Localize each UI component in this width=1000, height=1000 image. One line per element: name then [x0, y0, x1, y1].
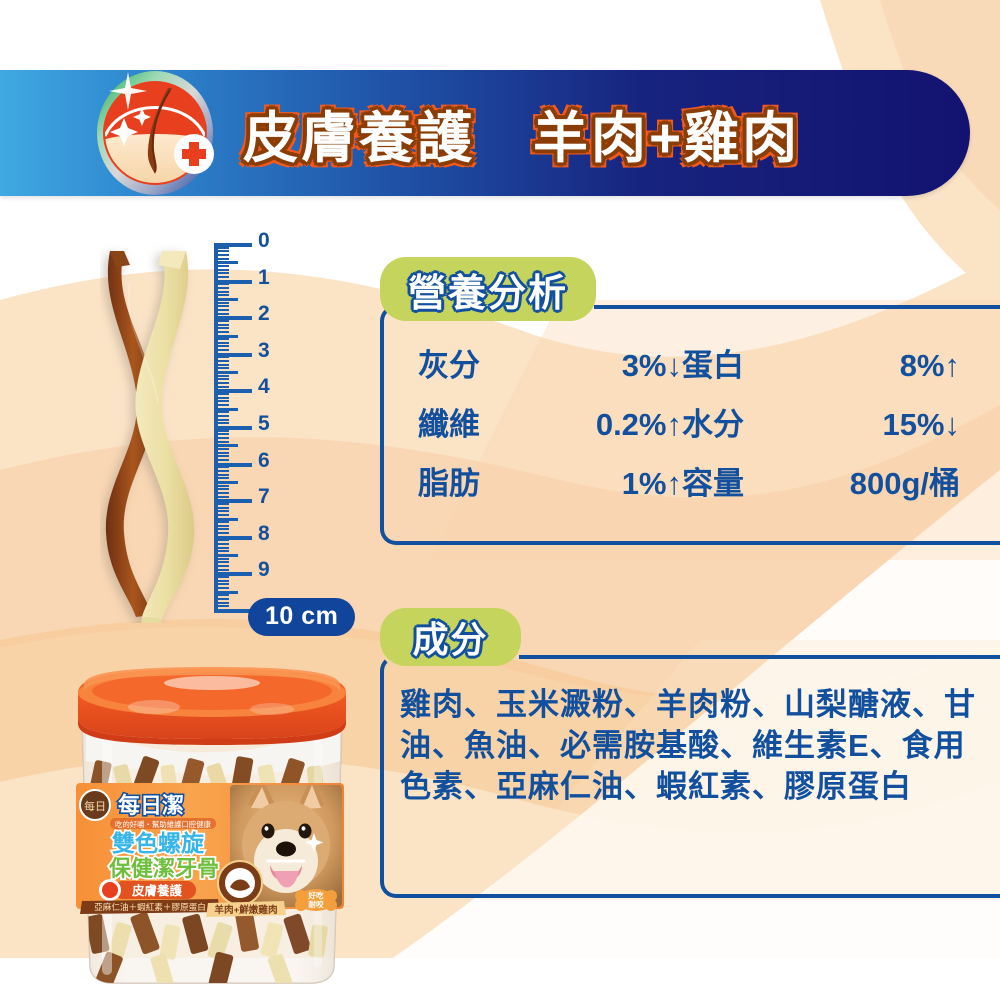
- ruler-tick-minor: [218, 470, 229, 472]
- ruler-tick-minor: [218, 528, 229, 530]
- ruler-tick-minor: [218, 309, 229, 311]
- ruler-tick-minor: [218, 422, 229, 424]
- ruler-tick-minor: [218, 393, 229, 395]
- infographic-canvas: 皮膚養護 羊肉+雞肉: [0, 0, 1000, 1000]
- nutrition-panel-topline: [594, 305, 1000, 309]
- ruler-tick-minor: [218, 503, 229, 505]
- nutrition-value: 1%↑: [534, 466, 682, 502]
- ruler-number: 2: [258, 302, 270, 326]
- tub-product-line2: 保健潔牙骨: [108, 856, 219, 881]
- ruler-tick-minor: [218, 576, 229, 578]
- page-title: 皮膚養護 羊肉+雞肉: [243, 93, 800, 173]
- tub-brand-text: 每日潔: [118, 793, 184, 818]
- ingredients-tab-label: 成分: [412, 611, 488, 663]
- ruler-tick-minor: [218, 591, 238, 594]
- nutrition-label: 纖維: [418, 399, 534, 444]
- nutrition-label: 容量: [682, 458, 800, 503]
- ruler-tick-minor: [218, 272, 229, 274]
- ruler-tick-minor: [218, 448, 229, 450]
- nutrition-value: 0.2%↑: [534, 407, 682, 443]
- ruler-tick-minor: [218, 492, 229, 494]
- ruler-tick-minor: [218, 569, 229, 571]
- ruler-tick-minor: [218, 375, 229, 377]
- ruler-tick-minor: [218, 485, 229, 487]
- ruler-tick-minor: [218, 345, 229, 347]
- ruler-tick-minor: [218, 276, 229, 278]
- ruler-tick-minor: [218, 258, 229, 260]
- svg-text:每日: 每日: [84, 799, 106, 813]
- ruler-tick-minor: [218, 291, 229, 293]
- ruler-tick-minor: [218, 507, 229, 509]
- nutrition-value: 800g/桶: [800, 458, 960, 503]
- ruler-tick-minor: [218, 474, 229, 476]
- tub-lid: [78, 667, 346, 745]
- ruler-tick-minor: [218, 433, 229, 435]
- ruler-tick-minor: [218, 543, 229, 545]
- ruler-number: 9: [258, 558, 270, 582]
- ruler-tick-minor: [218, 587, 229, 589]
- ruler-tick-minor: [218, 481, 238, 484]
- product-tub-image: 每日 每日潔 吃的好嚼‧幫助維護口腔健康 雙色螺旋 保健潔牙骨 皮膚養護 亞麻仁…: [62, 665, 362, 985]
- ruler-tick-minor: [218, 287, 229, 289]
- ruler-tick-minor: [218, 547, 229, 549]
- ruler-number: 3: [258, 339, 270, 363]
- twisted-chew-stick-image: [100, 243, 200, 623]
- nutrition-table: 灰分3%↓蛋白8%↑纖維0.2%↑水分15%↓脂肪1%↑容量800g/桶: [418, 340, 988, 503]
- ruler-tick-minor: [218, 452, 229, 454]
- ruler-tick-minor: [218, 441, 229, 443]
- svg-text:耐咬: 耐咬: [308, 899, 324, 909]
- ruler-tick-minor: [218, 265, 229, 267]
- ruler-tick-minor: [218, 455, 229, 457]
- nutrition-value: 3%↓: [534, 348, 682, 384]
- tub-tagline-text: 吃的好嚼‧幫助維護口腔健康: [115, 820, 212, 829]
- svg-text:好吃: 好吃: [307, 890, 324, 900]
- nutrition-tab-label: 營養分析: [408, 262, 568, 317]
- ruler-number: 7: [258, 485, 270, 509]
- tub-feature-badge: 皮膚養護: [131, 883, 183, 898]
- ruler-tick-minor: [218, 404, 229, 406]
- ruler-number: 6: [258, 449, 270, 473]
- nutrition-label: 灰分: [418, 340, 534, 385]
- ruler-tick-minor: [218, 565, 229, 567]
- ruler-tick-minor: [218, 261, 238, 264]
- ruler-tick-minor: [218, 302, 229, 304]
- skin-care-follicle-badge-icon: [84, 62, 226, 204]
- ruler-tick-minor: [218, 532, 229, 534]
- ruler-tick-minor: [218, 364, 229, 366]
- ruler-tick-minor: [218, 602, 229, 604]
- ruler-tick-minor: [218, 525, 229, 527]
- tub-label: 每日 每日潔 吃的好嚼‧幫助維護口腔健康 雙色螺旋 保健潔牙骨 皮膚養護 亞麻仁…: [76, 775, 344, 917]
- ruler-tick-minor: [218, 558, 229, 560]
- ruler-tick-minor: [218, 411, 229, 413]
- ruler-number: 1: [258, 266, 270, 290]
- ruler-tick-minor: [218, 397, 229, 399]
- nutrition-label: 蛋白: [682, 340, 800, 385]
- ruler-tick-minor: [218, 459, 229, 461]
- nutrition-label: 水分: [682, 399, 800, 444]
- ruler-tick-minor: [218, 510, 229, 512]
- ruler-number: 0: [258, 229, 270, 253]
- ruler-tick-minor: [218, 360, 229, 362]
- ruler-tick-minor: [218, 598, 229, 600]
- ruler-tick-minor: [218, 254, 229, 256]
- ingredients-text: 雞肉、玉米澱粉、羊肉粉、山梨醣液、甘油、魚油、必需胺基酸、維生素E、食用色素、亞…: [400, 685, 980, 808]
- size-ruler: 0123456789: [214, 243, 354, 628]
- ruler-tick-minor: [218, 313, 229, 315]
- ingredients-panel-tab: 成分: [380, 608, 521, 666]
- nutrition-value: 8%↑: [800, 348, 960, 384]
- ruler-tick-minor: [218, 320, 229, 322]
- tub-flavor-text: 羊肉+鮮嫩雞肉: [214, 904, 277, 916]
- ruler-tick-minor: [218, 386, 229, 388]
- ruler-length-badge: 10 cm: [248, 598, 355, 636]
- ruler-tick-minor: [218, 415, 229, 417]
- ruler-tick-minor: [218, 561, 229, 563]
- ruler-tick-minor: [218, 583, 229, 585]
- ruler-tick-minor: [218, 419, 229, 421]
- ruler-tick-minor: [218, 371, 238, 374]
- ruler-tick-minor: [218, 466, 229, 468]
- ruler-tick-minor: [218, 488, 229, 490]
- ruler-number: 8: [258, 522, 270, 546]
- ruler-tick-minor: [218, 408, 238, 411]
- ruler-tick-minor: [218, 430, 229, 432]
- ruler-tick-minor: [218, 518, 238, 521]
- ruler-tick-minor: [218, 269, 229, 271]
- header-banner: 皮膚養護 羊肉+雞肉: [0, 70, 970, 196]
- ruler-tick-minor: [218, 335, 238, 338]
- ruler-tick-minor: [218, 554, 238, 557]
- ruler-tick-minor: [218, 342, 229, 344]
- ruler-tick-minor: [218, 514, 229, 516]
- ruler-tick-minor: [218, 594, 229, 596]
- ruler-tick-minor: [218, 324, 229, 326]
- ruler-tick-minor: [218, 477, 229, 479]
- ingredients-panel-topline: [519, 655, 1000, 659]
- ruler-tick-minor: [218, 367, 229, 369]
- ruler-tick-minor: [218, 250, 229, 252]
- tub-product-line1: 雙色螺旋: [112, 830, 205, 856]
- ruler-tick-minor: [218, 331, 229, 333]
- ruler-tick-minor: [218, 349, 229, 351]
- ruler-tick-minor: [218, 437, 229, 439]
- ruler-tick-minor: [218, 338, 229, 340]
- ruler-tick-major: [218, 609, 252, 613]
- ruler-tick-minor: [218, 298, 238, 301]
- ruler-tick-minor: [218, 550, 229, 552]
- ruler-tick-minor: [218, 327, 229, 329]
- ruler-tick-minor: [218, 378, 229, 380]
- tub-feature-list: 亞麻仁油＋蝦紅素＋膠原蛋白: [94, 901, 206, 912]
- ruler-number: 4: [258, 375, 270, 399]
- ruler-tick-minor: [218, 539, 229, 541]
- ruler-tick-minor: [218, 521, 229, 523]
- ruler-tick-minor: [218, 400, 229, 402]
- ruler-tick-minor: [218, 356, 229, 358]
- ruler-tick-minor: [218, 496, 229, 498]
- ruler-tick-minor: [218, 382, 229, 384]
- nutrition-value: 15%↓: [800, 407, 960, 443]
- ruler-tick-minor: [218, 294, 229, 296]
- ruler-tick-minor: [218, 605, 229, 607]
- ruler-tick-minor: [218, 580, 229, 582]
- ruler-tick-minor: [218, 247, 229, 249]
- nutrition-label: 脂肪: [418, 458, 534, 503]
- ruler-number: 5: [258, 412, 270, 436]
- ruler-tick-minor: [218, 305, 229, 307]
- ruler-tick-minor: [218, 444, 238, 447]
- nutrition-panel-tab: 營養分析: [380, 257, 596, 321]
- ruler-tick-minor: [218, 283, 229, 285]
